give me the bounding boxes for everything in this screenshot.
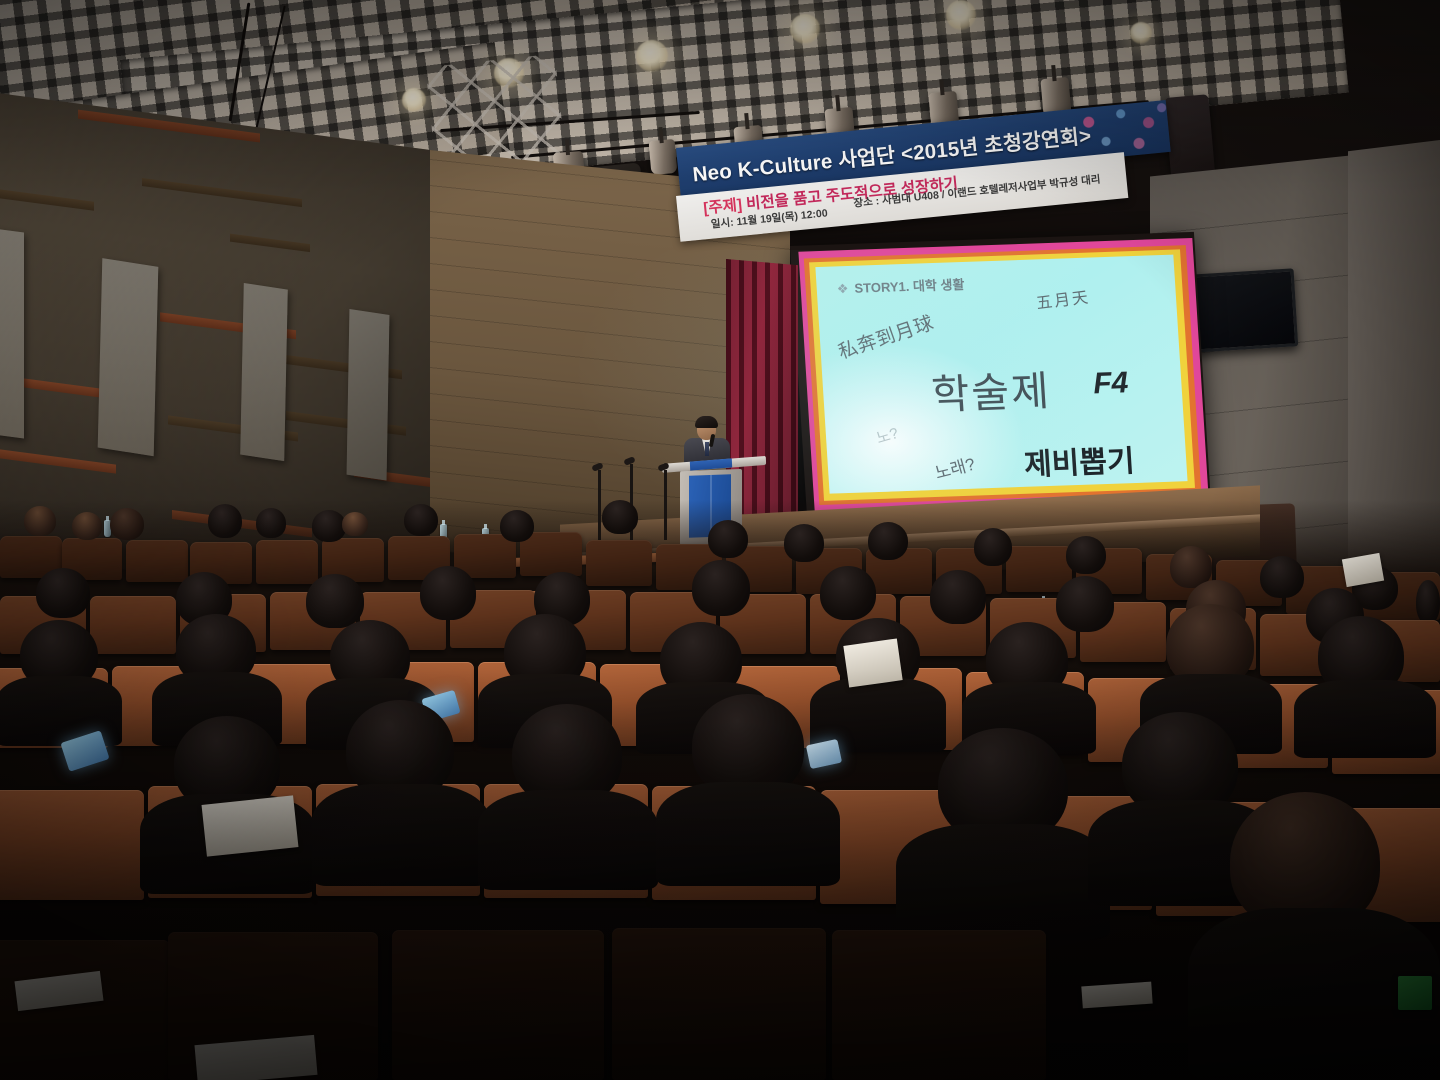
spotlight [649, 139, 678, 175]
slide-band-label: F4 [1092, 366, 1129, 401]
auditorium-seat[interactable] [392, 930, 604, 1080]
audience-member [478, 790, 658, 890]
audience-member [784, 524, 824, 562]
auditorium-photo: Neo K-Culture 사업단 <2015년 초청강연회> [주제] 비전을… [0, 0, 1440, 1080]
slide-activity-text: 제비뽑기 [1023, 436, 1136, 484]
slide-border-inner: ❖STORY1. 대학 생활 私奔到月球 五月天 학술제 F4 노? 노래? 제… [809, 249, 1195, 500]
audience-member [656, 782, 840, 886]
auditorium-seat[interactable] [256, 540, 318, 584]
audience-member [820, 566, 876, 620]
audience-member [500, 510, 534, 542]
slide-chinese-right: 五月天 [1034, 283, 1091, 313]
audience-member [602, 500, 638, 534]
audience-member [306, 574, 364, 628]
audience-member [0, 676, 122, 746]
audience-member [24, 506, 56, 536]
audience-member [1416, 580, 1440, 624]
audience-member [36, 568, 90, 618]
ceiling-lamp [636, 40, 668, 72]
audience-member [930, 570, 986, 624]
auditorium-seat[interactable] [832, 930, 1046, 1080]
audience-member [312, 784, 490, 886]
audience-member [868, 522, 908, 560]
audience-member [896, 824, 1110, 940]
slide-border-mid: ❖STORY1. 대학 생활 私奔到月球 五月天 학술제 F4 노? 노래? 제… [804, 245, 1201, 505]
audience-member [420, 566, 476, 620]
projection-screen: ❖STORY1. 대학 생활 私奔到月球 五月天 학술제 F4 노? 노래? 제… [790, 232, 1211, 514]
auditorium-seat[interactable] [586, 540, 652, 586]
slide-heading: ❖STORY1. 대학 생활 [836, 274, 965, 297]
audience-member [1066, 536, 1106, 574]
audience-member [1294, 680, 1436, 758]
slide-heading-text: STORY1. 대학 생활 [854, 277, 965, 296]
slide-content: ❖STORY1. 대학 생활 私奔到月球 五月天 학술제 F4 노? 노래? 제… [815, 255, 1187, 494]
ceiling-lamp [1130, 22, 1152, 44]
audience-member [72, 512, 102, 540]
audience-member [1056, 576, 1114, 632]
auditorium-seat[interactable] [0, 790, 144, 900]
audience-member [708, 520, 748, 558]
audience-member [342, 512, 368, 536]
handout-paper [843, 638, 902, 687]
slide-main-text: 학술제 [930, 357, 1053, 421]
audience-member [974, 528, 1012, 566]
auditorium-seat[interactable] [612, 928, 826, 1080]
ceiling-lamp [946, 0, 976, 30]
slide-question-text: 노래? [932, 450, 978, 484]
audience-member [692, 560, 750, 616]
audience-member [404, 504, 438, 536]
green-folder [1398, 976, 1432, 1010]
audience-member [256, 508, 286, 538]
ceiling-lamp [790, 14, 820, 44]
audience-member [312, 510, 346, 542]
slide-bullet-icon: ❖ [836, 281, 849, 296]
auditorium-seat[interactable] [90, 596, 176, 654]
handout-paper [202, 795, 299, 856]
audience-member [110, 508, 144, 540]
audience-member [1260, 556, 1304, 598]
slide-faint-text: 노? [873, 422, 901, 448]
audience-member [208, 504, 242, 538]
auditorium-seat[interactable] [126, 540, 188, 582]
slide-chinese-left: 私奔到月球 [834, 308, 937, 365]
auditorium-seat[interactable] [520, 532, 582, 576]
ceiling-lamp [402, 88, 426, 112]
slide-border-outer: ❖STORY1. 대학 생활 私奔到月球 五月天 학술제 F4 노? 노래? 제… [798, 238, 1208, 511]
